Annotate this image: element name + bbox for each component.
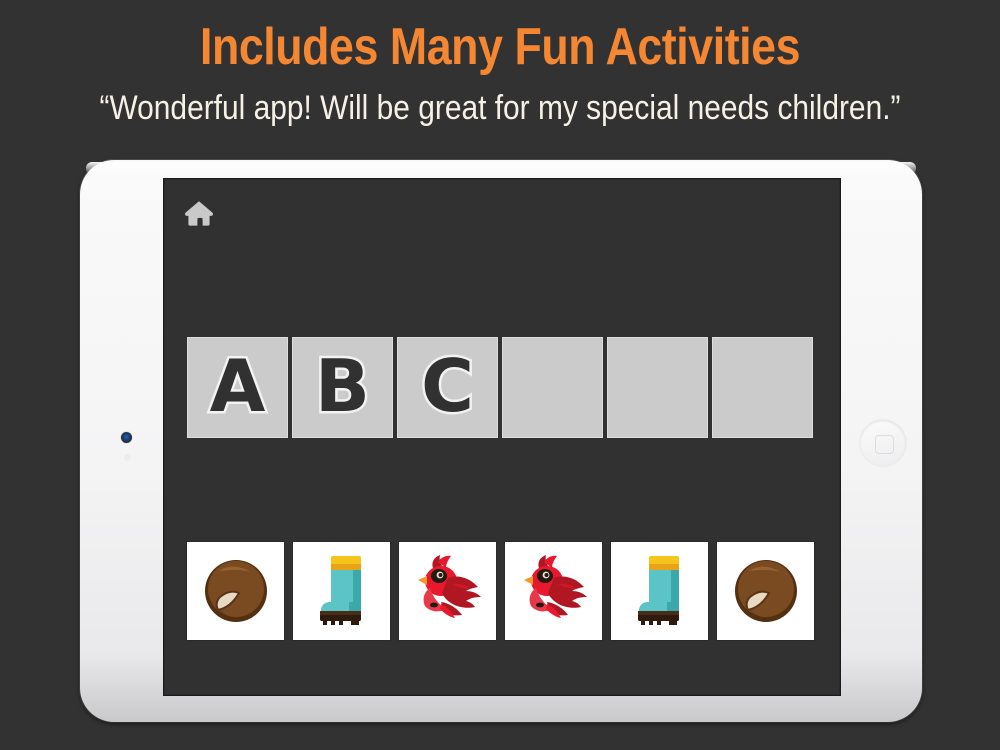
cardinal-bird-icon	[408, 554, 488, 628]
slot-letter: B	[315, 350, 370, 422]
slot-letter: C	[421, 350, 474, 422]
rain-boot-icon	[621, 551, 699, 631]
answer-slot[interactable]: B	[292, 337, 393, 438]
home-icon[interactable]	[184, 199, 214, 227]
choice-card-bird[interactable]	[399, 542, 496, 640]
answer-slot[interactable]	[712, 337, 813, 438]
cardinal-bird-icon	[514, 554, 594, 628]
promo-screenshot: Includes Many Fun Activities “Wonderful …	[0, 0, 1000, 750]
home-button-square-icon	[875, 435, 894, 454]
choice-card-boot[interactable]	[293, 542, 390, 640]
answer-slot[interactable]: A	[187, 337, 288, 438]
rain-boot-icon	[303, 551, 381, 631]
tablet-device: A B C	[80, 160, 922, 722]
answer-slot[interactable]: C	[397, 337, 498, 438]
slot-letter: A	[210, 350, 266, 422]
home-button[interactable]	[860, 420, 906, 466]
answer-slot[interactable]	[502, 337, 603, 438]
chestnut-icon	[727, 552, 805, 630]
page-title: Includes Many Fun Activities	[70, 18, 930, 76]
choice-card-boot[interactable]	[611, 542, 708, 640]
choice-card-chestnut[interactable]	[187, 542, 284, 640]
answer-slot[interactable]	[607, 337, 708, 438]
front-camera-icon	[121, 432, 132, 443]
ambient-sensor-icon	[124, 454, 131, 461]
answer-slot-row: A B C	[187, 337, 813, 438]
app-screen: A B C	[163, 178, 841, 696]
choice-card-row	[187, 542, 814, 640]
testimonial-quote: “Wonderful app! Will be great for my spe…	[60, 88, 940, 128]
choice-card-chestnut[interactable]	[717, 542, 814, 640]
chestnut-icon	[197, 552, 275, 630]
choice-card-bird[interactable]	[505, 542, 602, 640]
